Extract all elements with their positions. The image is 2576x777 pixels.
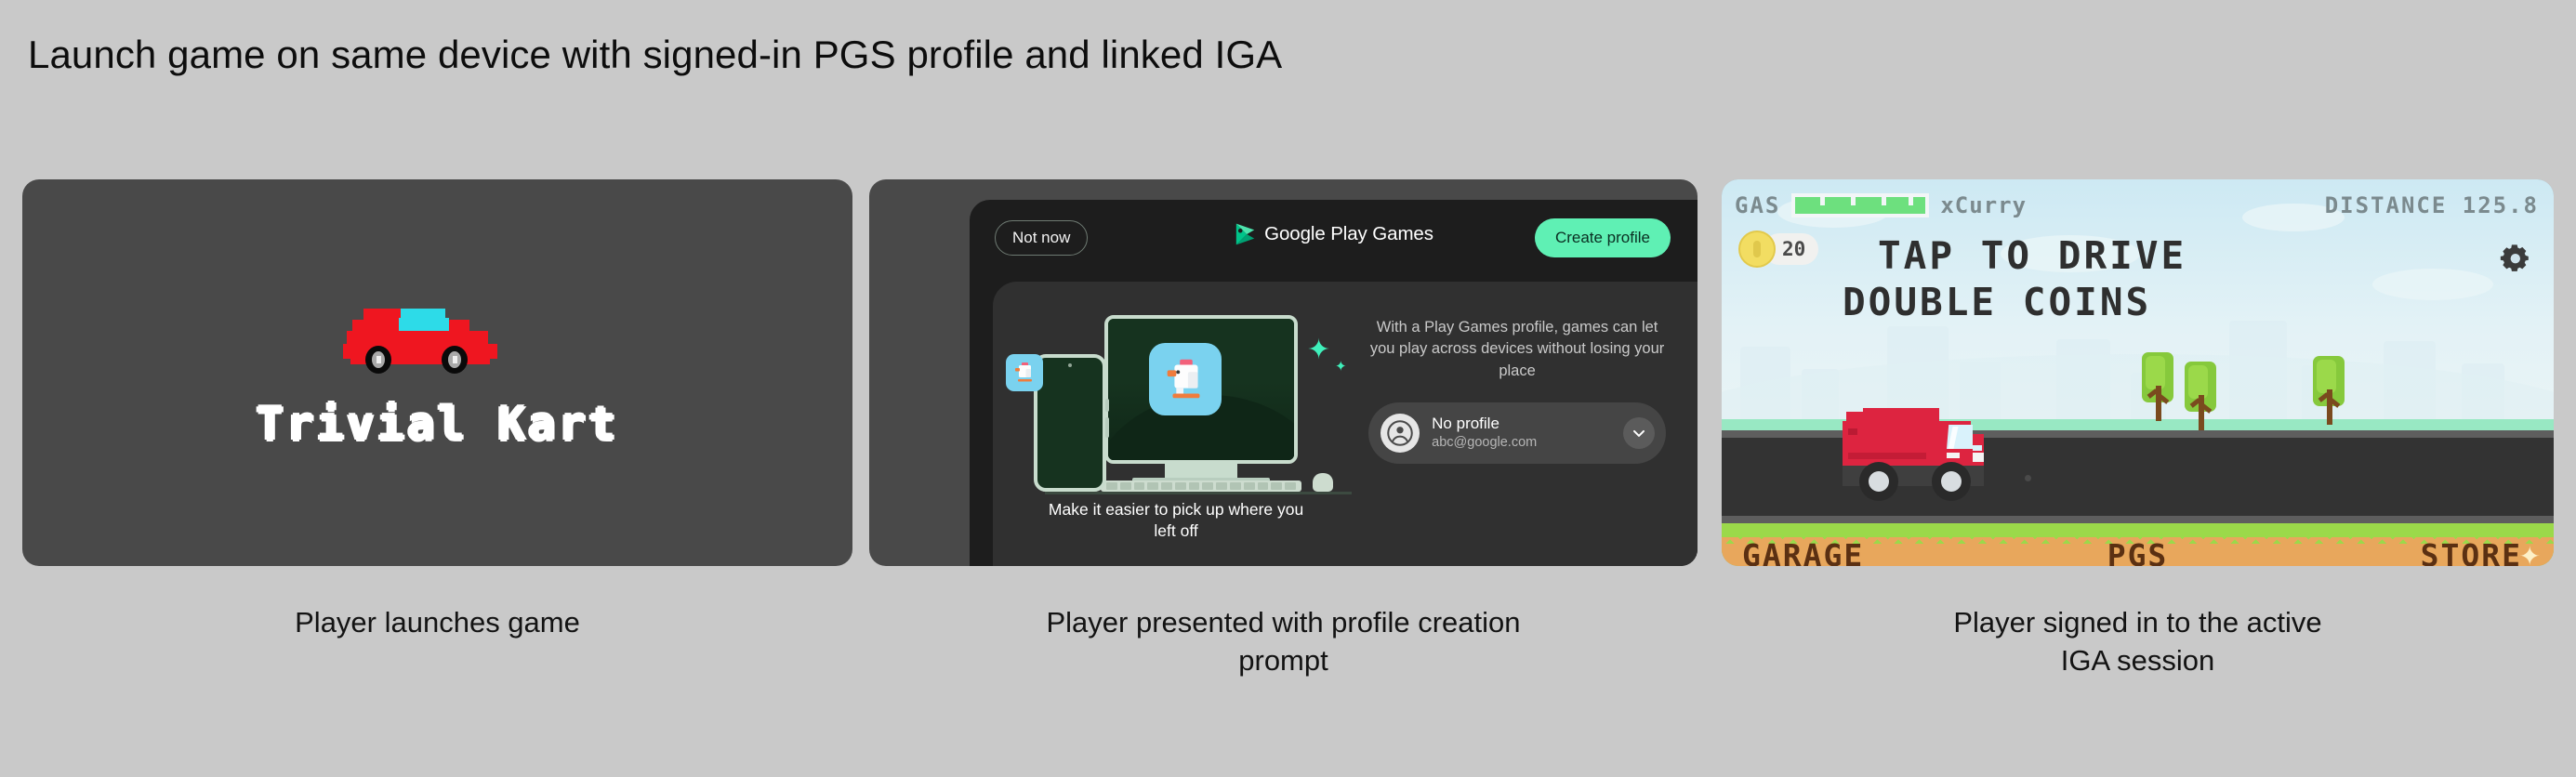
nav-garage-button[interactable]: GARAGE xyxy=(1742,537,1864,566)
pgs-profile-sheet: Not now Google Play Games Crea xyxy=(970,200,1698,566)
keyboard-icon xyxy=(1101,481,1301,492)
cross-device-illustration: ✦ ✦ xyxy=(993,306,1359,488)
pixel-tree-icon xyxy=(2142,352,2173,421)
gear-icon[interactable] xyxy=(2500,243,2531,274)
caption-panel-1: Player launches game xyxy=(22,604,852,642)
brand-label: Google Play Games xyxy=(1264,223,1433,245)
screenshot-root: Launch game on same device with signed-i… xyxy=(0,0,2576,777)
pixel-red-truck-icon xyxy=(1835,404,2008,503)
panel-profile-prompt: Not now Google Play Games Crea xyxy=(869,179,1698,566)
game-hud: GARAGE PGS STORE ✦ GAS xCurry DISTANCE 1… xyxy=(1722,179,2554,566)
panel-game-launch: Trivial Kart xyxy=(22,179,852,566)
coin-counter: 20 xyxy=(1738,231,1818,267)
google-play-games-icon xyxy=(1234,222,1256,246)
caption-row: Player launches game Player presented wi… xyxy=(0,604,2576,744)
caption-panel-3: Player signed in to the activeIGA sessio… xyxy=(1722,604,2554,680)
gas-bar xyxy=(1791,193,1929,217)
mouse-icon xyxy=(1313,473,1333,492)
game-splash-screen: Trivial Kart xyxy=(22,179,852,566)
chevron-down-icon[interactable] xyxy=(1623,417,1655,449)
crossy-road-chicken-icon xyxy=(1149,343,1222,415)
account-email: abc@google.com xyxy=(1432,434,1611,453)
pixel-tree-icon xyxy=(2313,356,2345,425)
page-title: Launch game on same device with signed-i… xyxy=(28,33,1282,77)
mobile-phone-icon xyxy=(1034,354,1106,492)
account-text: No profile abc@google.com xyxy=(1432,415,1611,452)
pixel-race-car-icon xyxy=(337,296,538,374)
pgs-content-card: ✦ ✦ Make it easier to pick up where you … xyxy=(993,282,1698,566)
profile-column: With a Play Games profile, games can let… xyxy=(1359,282,1698,566)
pgs-sheet-topbar: Not now Google Play Games Crea xyxy=(970,200,1698,272)
account-circle-icon xyxy=(1380,414,1420,453)
headline-line-2: DOUBLE COINS xyxy=(1843,280,2151,324)
brand: Google Play Games xyxy=(1234,222,1433,246)
account-name: No profile xyxy=(1432,415,1611,433)
headline-line-1: TAP TO DRIVE xyxy=(1878,233,2186,278)
profile-blurb: With a Play Games profile, games can let… xyxy=(1368,317,1666,382)
gold-coin-icon xyxy=(1738,230,1776,268)
illustration-column: ✦ ✦ Make it easier to pick up where you … xyxy=(993,282,1359,566)
sparkle-icon-small: ✦ xyxy=(1335,358,1347,375)
game-title: Trivial Kart xyxy=(256,398,618,451)
create-profile-button[interactable]: Create profile xyxy=(1535,218,1671,257)
pixel-tree-icon xyxy=(2185,362,2216,430)
illustration-caption: Make it easier to pick up where you left… xyxy=(993,499,1359,543)
multiplier-label: xCurry xyxy=(1940,192,2027,218)
nav-store-button[interactable]: STORE xyxy=(2421,537,2522,566)
sparkle-icon: ✦ xyxy=(2519,541,2541,566)
crossy-road-chicken-icon-small xyxy=(1006,354,1043,391)
gas-label: GAS xyxy=(1735,192,1780,218)
distance-readout: DISTANCE 125.8 xyxy=(2325,192,2539,218)
game-bottom-nav: GARAGE PGS STORE ✦ xyxy=(1722,537,2554,566)
illustration-floor xyxy=(1045,492,1352,494)
panel-iga-session: GARAGE PGS STORE ✦ GAS xCurry DISTANCE 1… xyxy=(1722,179,2554,566)
panel-row: Trivial Kart Not now xyxy=(0,179,2576,570)
not-now-button[interactable]: Not now xyxy=(995,220,1088,256)
nav-pgs-button[interactable]: PGS xyxy=(2107,537,2169,566)
account-selector[interactable]: No profile abc@google.com xyxy=(1368,402,1666,464)
sparkle-icon: ✦ xyxy=(1307,334,1330,366)
gas-meter: GAS xCurry xyxy=(1735,192,2027,218)
caption-panel-2: Player presented with profile creationpr… xyxy=(869,604,1698,680)
